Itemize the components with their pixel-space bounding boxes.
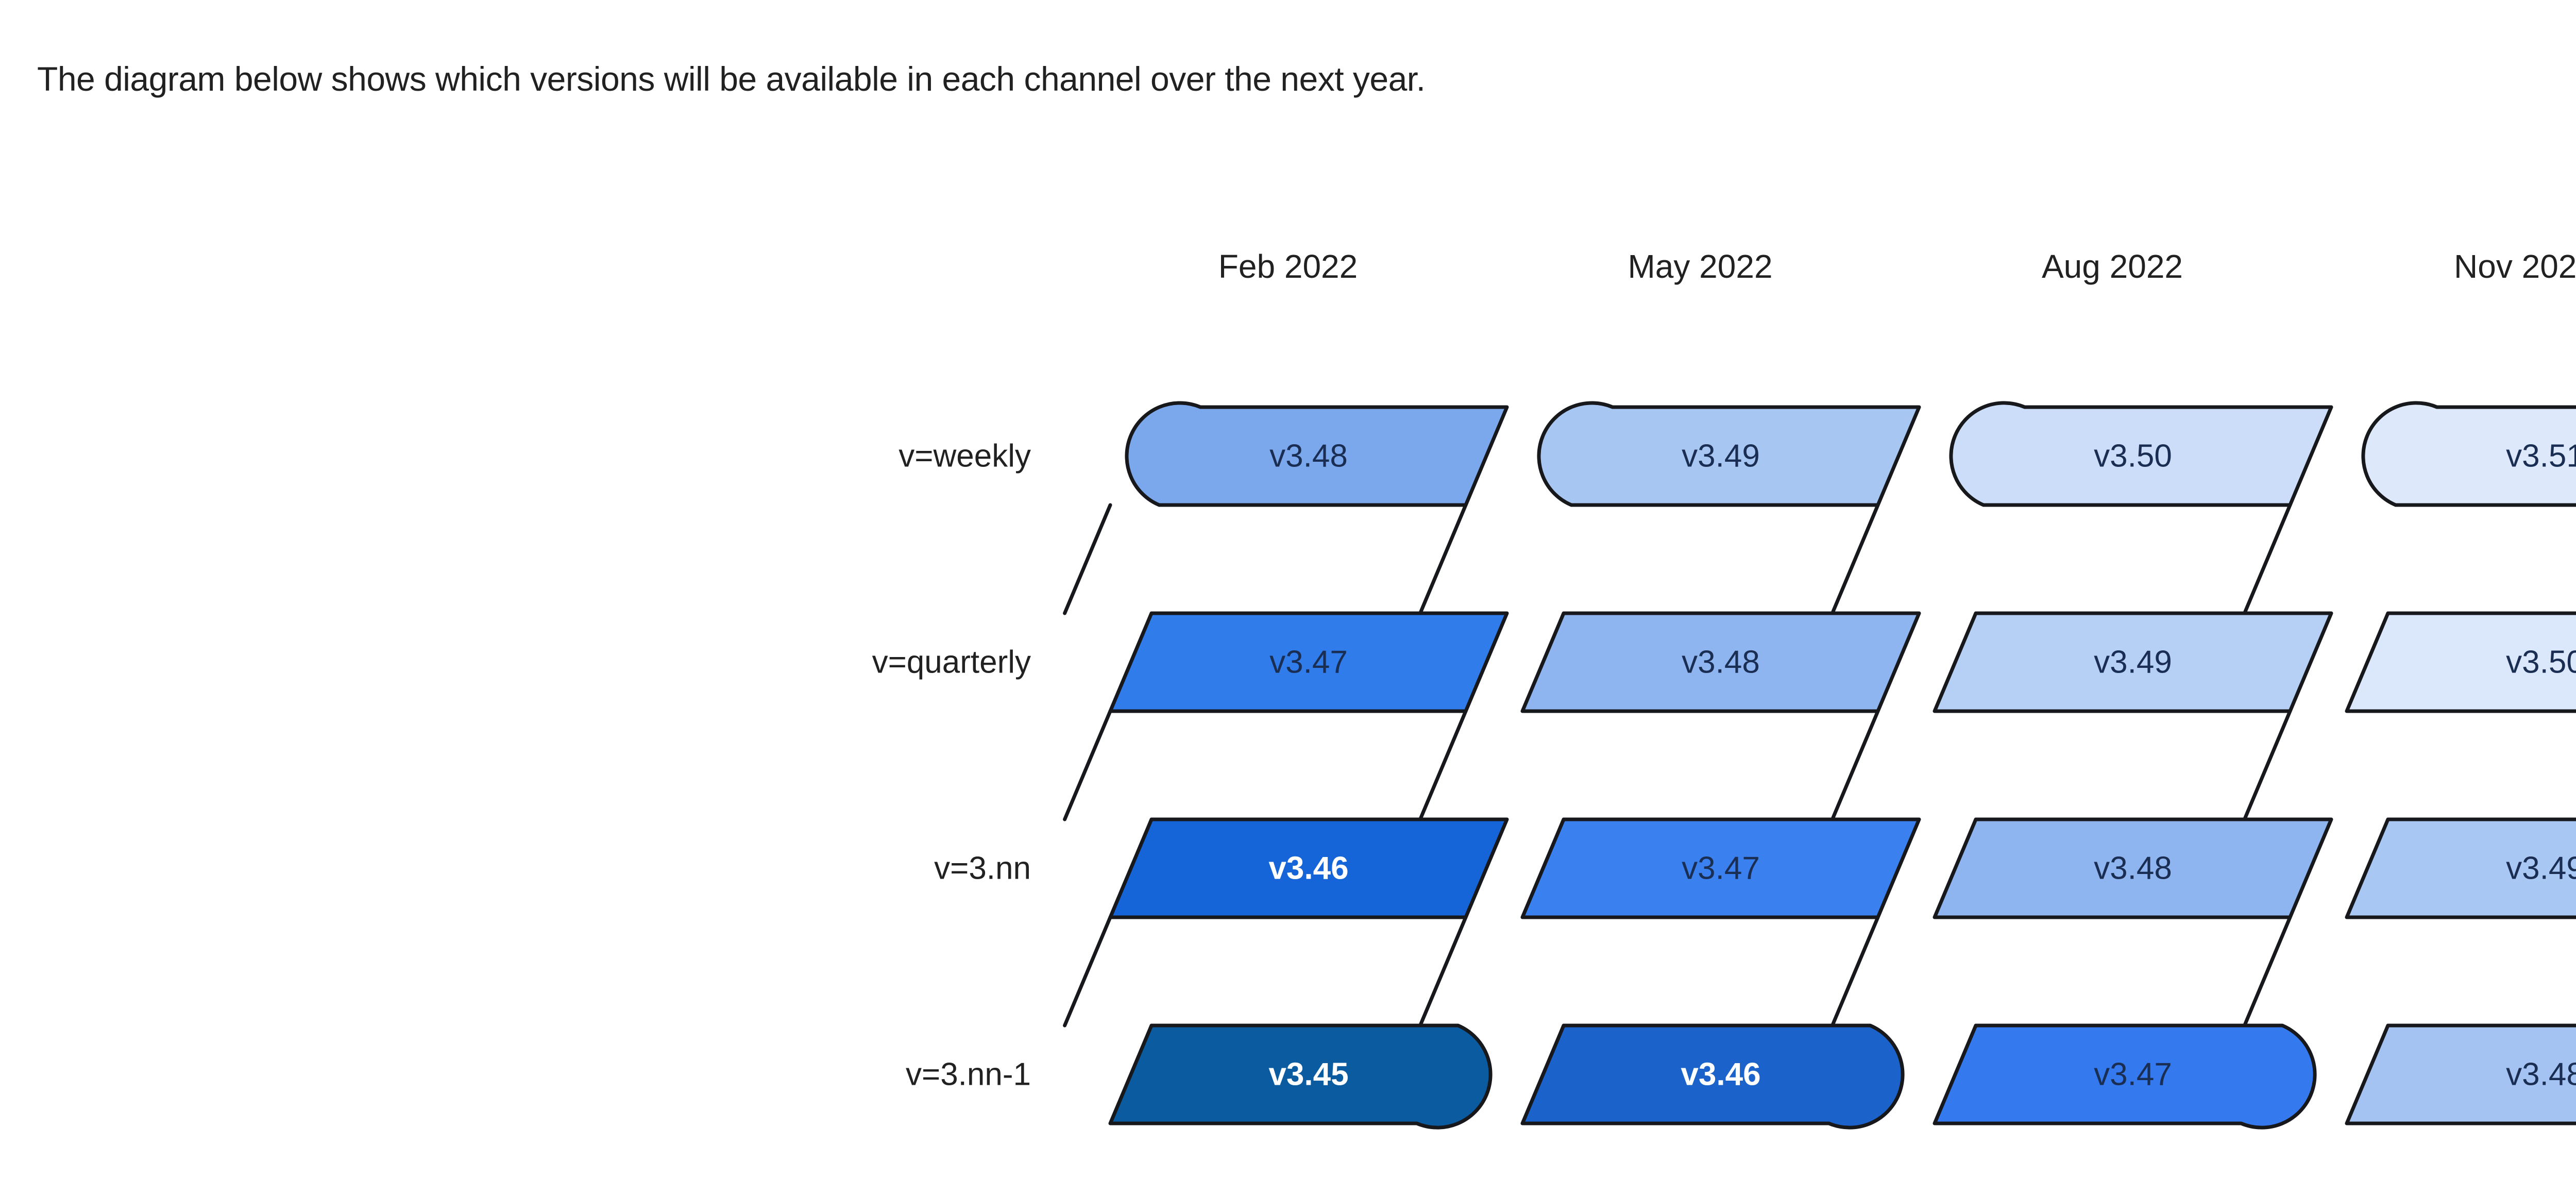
version-cell-label: v3.49 xyxy=(1682,438,1760,475)
column-header-1: Feb 2022 xyxy=(1218,247,1358,285)
column-header-3: Aug 2022 xyxy=(2042,247,2183,285)
cell-shapes-group xyxy=(1110,403,2576,1128)
version-cell-label: v3.48 xyxy=(1269,438,1348,475)
version-cell-label: v3.49 xyxy=(2094,644,2172,681)
row-label-4: v=3.nn-1 xyxy=(906,1056,1031,1093)
connector-line xyxy=(2245,917,2290,1025)
connector-line xyxy=(1420,505,1466,613)
version-cell-label: v3.47 xyxy=(1682,850,1760,887)
connector-line xyxy=(2245,505,2290,613)
version-cell xyxy=(1935,1025,2315,1128)
version-cell xyxy=(1110,819,1507,917)
version-cell-label: v3.48 xyxy=(2506,1056,2576,1093)
version-cell xyxy=(1935,613,2331,711)
version-cell-label: v3.46 xyxy=(1268,850,1348,887)
connector-lines-group xyxy=(1065,505,2576,1025)
version-channel-diagram: Feb 2022May 2022Aug 2022Nov 2022 v=weekl… xyxy=(0,0,2576,1177)
row-label-3: v=3.nn xyxy=(934,850,1031,887)
version-cell-label: v3.48 xyxy=(1682,644,1760,681)
version-cell xyxy=(1935,819,2331,917)
connector-line xyxy=(1833,711,1878,819)
connector-line xyxy=(1420,711,1466,819)
version-cell xyxy=(1539,403,1919,505)
connector-line-left xyxy=(1065,917,1110,1025)
connector-line xyxy=(2245,711,2290,819)
connector-line xyxy=(1420,917,1466,1025)
version-cell xyxy=(1110,1025,1490,1128)
version-cell xyxy=(2363,403,2576,505)
version-cell-label: v3.46 xyxy=(1681,1056,1760,1093)
version-cell xyxy=(1522,613,1919,711)
version-cell xyxy=(2347,1025,2576,1128)
column-header-2: May 2022 xyxy=(1628,247,1772,285)
connector-line xyxy=(1833,917,1878,1025)
version-cell-label: v3.49 xyxy=(2506,850,2576,887)
version-cell xyxy=(2347,613,2576,711)
row-label-1: v=weekly xyxy=(899,438,1031,475)
diagram-shapes-layer xyxy=(0,0,2576,1177)
version-cell-label: v3.50 xyxy=(2506,644,2576,681)
version-cell-label: v3.47 xyxy=(2094,1056,2172,1093)
version-cell-label: v3.48 xyxy=(2094,850,2172,887)
version-cell-label: v3.51 xyxy=(2506,438,2576,475)
version-cell-label: v3.45 xyxy=(1268,1056,1348,1093)
version-cell xyxy=(1522,819,1919,917)
version-cell xyxy=(1522,1025,1903,1128)
version-cell xyxy=(1127,403,1507,505)
version-cell xyxy=(2347,819,2576,921)
version-cell-label: v3.47 xyxy=(1269,644,1348,681)
connector-line xyxy=(1833,505,1878,613)
row-label-2: v=quarterly xyxy=(872,644,1031,681)
connector-line-left xyxy=(1065,505,1110,613)
version-cell-label: v3.50 xyxy=(2094,438,2172,475)
version-cell xyxy=(1110,613,1507,711)
version-cell xyxy=(1951,403,2331,505)
connector-line-left xyxy=(1065,711,1110,819)
column-header-4: Nov 2022 xyxy=(2454,247,2576,285)
